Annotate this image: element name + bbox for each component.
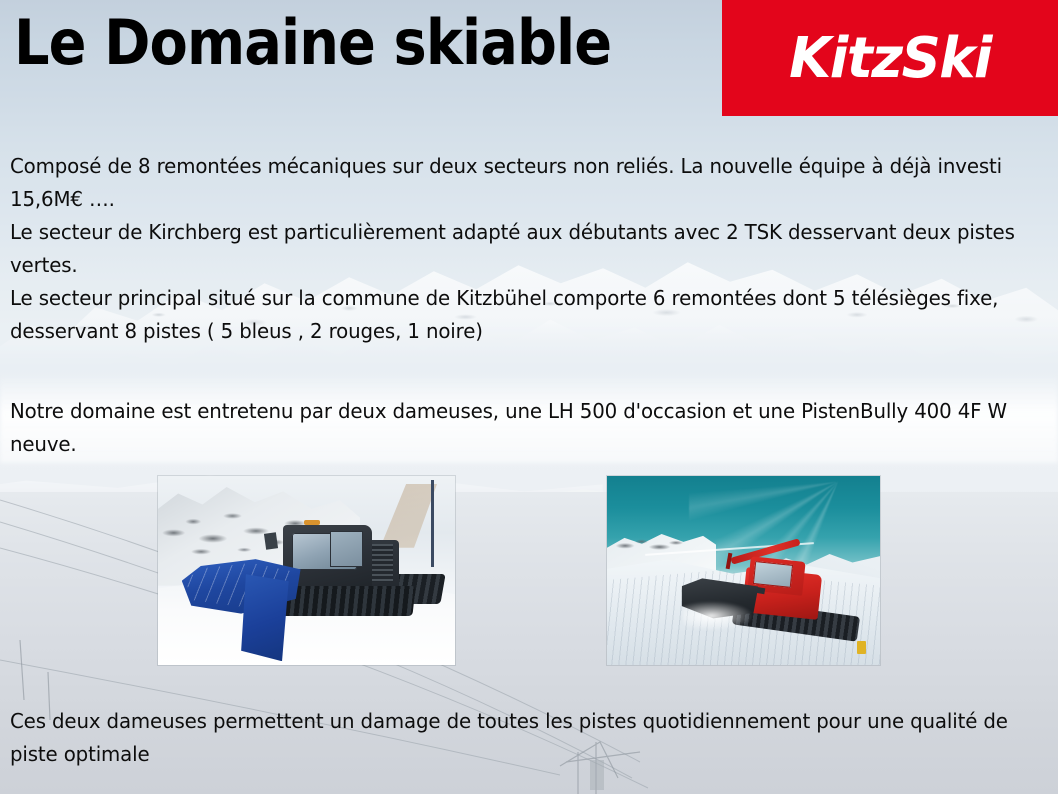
paragraph-groomers-description: Notre domaine est entretenu par deux dam… bbox=[10, 395, 1038, 461]
kitzski-logo: KitzSki bbox=[722, 0, 1058, 116]
paragraph-piste-quality: Ces deux dameuses permettent un damage d… bbox=[10, 705, 1038, 771]
kitzski-logo-text: KitzSki bbox=[789, 26, 991, 91]
photo-pistenbully-groomer bbox=[607, 476, 880, 665]
photo-lh500-lift-pole bbox=[431, 480, 434, 567]
slide-title: Le Domaine skiable bbox=[14, 12, 611, 74]
paragraph-domain-description: Composé de 8 remontées mécaniques sur de… bbox=[10, 150, 1038, 348]
photo-lh500-blade-wing bbox=[241, 574, 289, 661]
photo-lh500-side-window bbox=[330, 531, 363, 567]
photo-lh500-mirror bbox=[264, 532, 278, 550]
photo-pistenbully-windshield bbox=[753, 561, 793, 588]
photo-pistenbully-sun-rays bbox=[689, 476, 880, 571]
photo-pistenbully-piste-marker bbox=[857, 641, 866, 654]
photo-pistenbully-snow-spray bbox=[683, 601, 754, 631]
presentation-slide: Le Domaine skiable KitzSki Composé de 8 … bbox=[0, 0, 1058, 794]
photo-lh500-beacon-light bbox=[304, 520, 320, 525]
photo-lh500-groomer bbox=[158, 476, 455, 665]
